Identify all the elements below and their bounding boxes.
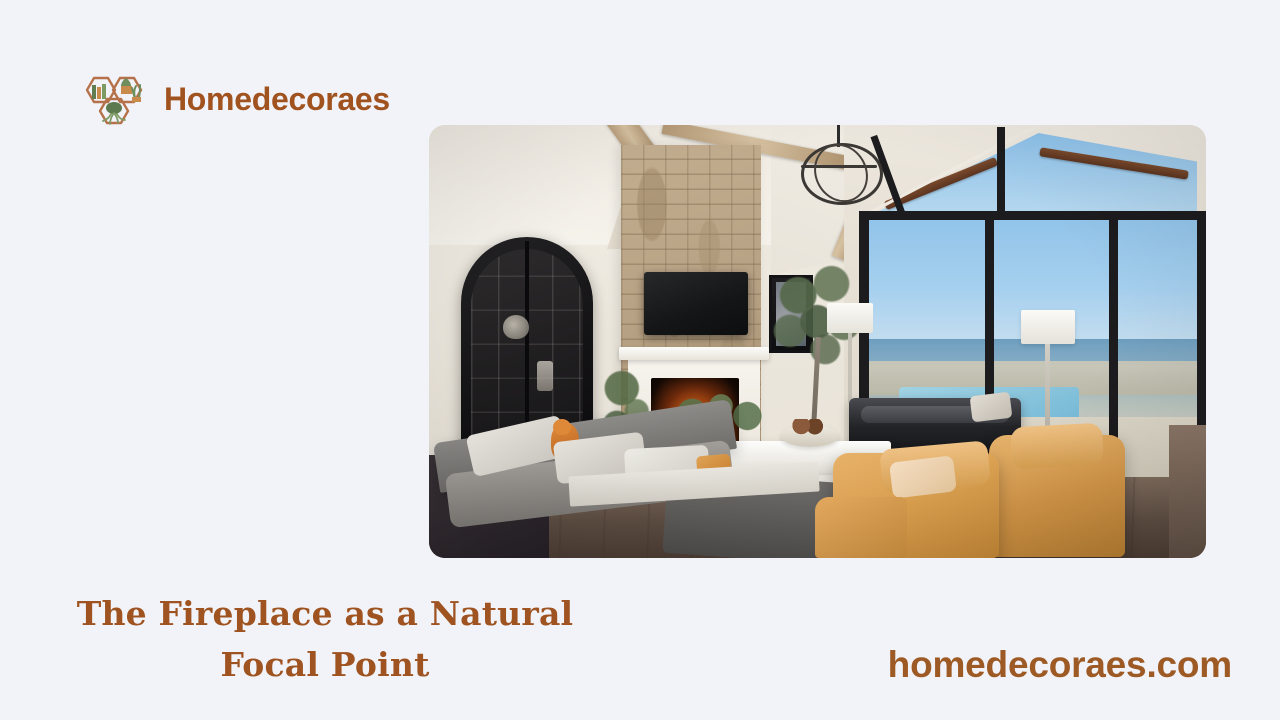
site-url[interactable]: homedecoraes.com: [888, 644, 1232, 686]
living-room-scene: [429, 125, 1206, 558]
orange-cat-head: [553, 419, 571, 435]
cabinet-decor-item: [503, 315, 529, 339]
hardwood-floor: [1169, 425, 1206, 558]
hero-photo[interactable]: [429, 125, 1206, 558]
armchair-arm: [815, 497, 907, 558]
armchair-backrest: [1010, 423, 1104, 470]
logo-plant-right: [132, 85, 141, 102]
logo-plant-left: [92, 84, 106, 99]
caption-line-2: Focal Point: [220, 645, 429, 684]
throw-pillow: [970, 392, 1013, 423]
window-mullion: [861, 211, 1206, 220]
wall-mounted-tv: [644, 272, 748, 335]
floor-lamp-pole: [848, 333, 852, 403]
caption-heading: The Fireplace as a Natural Focal Point: [40, 588, 610, 690]
floor-lamp-shade: [827, 303, 873, 333]
cabinet-decor-item: [537, 361, 553, 391]
bowl-contents: [791, 419, 825, 435]
floor-lamp-pole: [1045, 344, 1050, 436]
caption-line-1: The Fireplace as a Natural: [77, 594, 574, 633]
honeycomb-shelf-plants-icon: [78, 68, 150, 130]
logo-plant-center-top: [121, 78, 132, 94]
fireplace-mantel: [619, 347, 769, 360]
brand-name: Homedecoraes: [164, 81, 390, 118]
floor-lamp-shade: [1021, 310, 1075, 344]
window-mullion: [997, 127, 1005, 215]
brand-header[interactable]: Homedecoraes: [78, 68, 390, 130]
